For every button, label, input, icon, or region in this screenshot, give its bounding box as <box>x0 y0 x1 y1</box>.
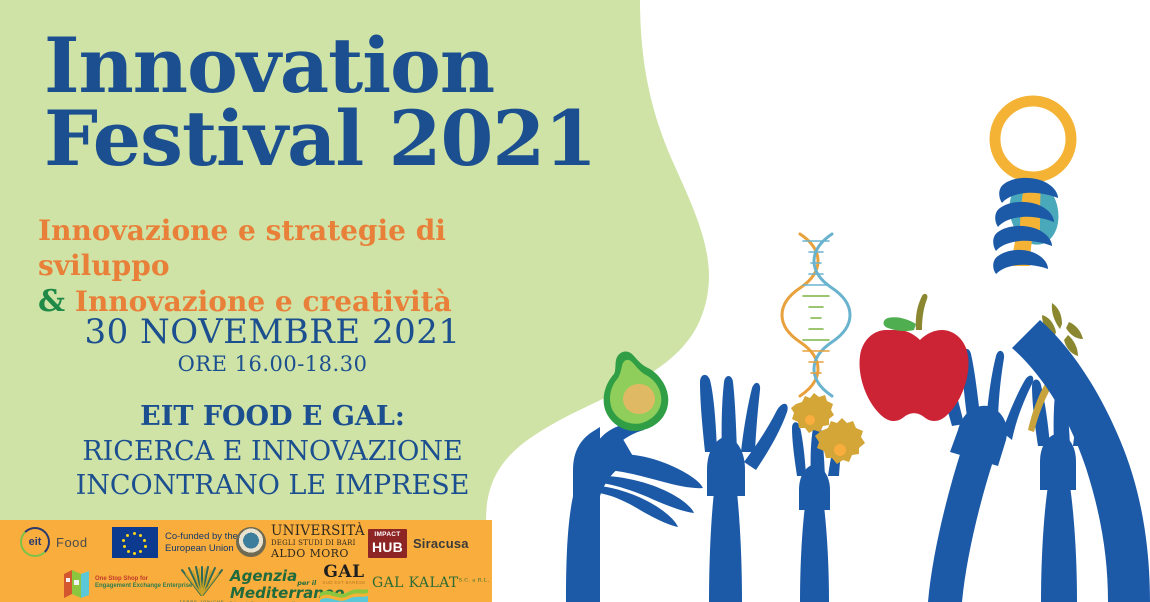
eu-flag-icon <box>112 527 158 558</box>
gal-kalat-suffix: S.C. a R.L. <box>459 577 490 583</box>
university-label: UNIVERSITÀ DEGLI STUDI DI BARI ALDO MORO <box>271 525 365 559</box>
fork-hand-gears <box>791 393 865 602</box>
gal-line-1: GAL <box>320 564 368 581</box>
subtitle-line-1: Innovazione e strategie di sviluppo <box>38 213 558 283</box>
event-poster: Innovation Festival 2021 Innovazione e s… <box>0 0 1150 602</box>
eu-label: Co-funded by the European Union <box>165 531 238 555</box>
apple-icon <box>860 294 969 421</box>
title-line-2: Festival 2021 <box>44 103 604 176</box>
fork-hand-avocado <box>566 352 703 602</box>
eu-label-line-1: Co-funded by the <box>165 531 238 543</box>
logo-terre-joniche: TERRE JONICHE <box>176 566 228 602</box>
text-column: Innovation Festival 2021 Innovazione e s… <box>0 0 560 520</box>
impact-hub-top: IMPACT <box>372 532 403 539</box>
gal-line-2: SUD EST BARESE <box>320 581 368 586</box>
event-headline: EIT FOOD E GAL: RICERCA E INNOVAZIONE IN… <box>0 400 545 504</box>
eit-food-label: Food <box>56 535 88 550</box>
event-date: 30 NOVEMBRE 2021 <box>0 312 545 352</box>
impact-hub-bottom: HUB <box>372 540 403 554</box>
eu-label-line-2: European Union <box>165 543 238 555</box>
terre-joniche-icon <box>176 566 228 598</box>
logo-european-union: Co-funded by the European Union <box>112 527 238 558</box>
headline-line-1: EIT FOOD E GAL: <box>0 400 545 435</box>
logo-one-stop-shop: One Stop Shop for Engagement Exchange En… <box>62 568 192 598</box>
logo-gal-kalat: GAL KALATS.C. a R.L. <box>372 575 490 591</box>
eit-ring-icon: eit <box>20 527 50 557</box>
page-title: Innovation Festival 2021 <box>44 30 604 176</box>
logo-universita-bari: UNIVERSITÀ DEGLI STUDI DI BARI ALDO MORO <box>236 525 365 559</box>
university-line-3: ALDO MORO <box>271 548 365 559</box>
logo-row-2: One Stop Shop for Engagement Exchange En… <box>0 564 492 602</box>
gal-label: GAL SUD EST BARESE <box>320 564 368 586</box>
logo-row-1: eit Food Co-funded by <box>0 520 492 564</box>
agenzia-line-1: Agenzia <box>230 567 297 585</box>
logo-impact-hub: IMPACT HUB Siracusa <box>368 529 469 558</box>
university-line-2: DEGLI STUDI DI BARI <box>271 540 365 547</box>
university-seal-icon <box>236 527 266 557</box>
gal-wave-icon <box>320 586 368 602</box>
sponsor-logo-bar: eit Food Co-funded by <box>0 520 492 602</box>
avocado-icon <box>604 352 669 431</box>
event-time: ORE 16.00-18.30 <box>0 352 545 376</box>
logo-eit-food: eit Food <box>20 527 88 557</box>
headline-line-3: INCONTRANO LE IMPRESE <box>0 469 545 504</box>
university-line-1: UNIVERSITÀ <box>271 525 365 539</box>
logo-gal-sud-est-barese: GAL SUD EST BARESE <box>320 564 368 602</box>
eit-mark-text: eit <box>29 536 42 548</box>
one-stop-shop-icon <box>62 568 90 598</box>
subtitle: Innovazione e strategie di sviluppo & In… <box>38 213 558 321</box>
headline-line-2: RICERCA E INNOVAZIONE <box>0 435 545 470</box>
fork-hand-apple <box>860 294 1034 602</box>
gal-kalat-line-1: GAL KALAT <box>372 575 459 591</box>
dna-helix-icon <box>782 234 850 396</box>
impact-hub-city: Siracusa <box>413 536 469 551</box>
impact-hub-mark: IMPACT HUB <box>368 529 407 558</box>
